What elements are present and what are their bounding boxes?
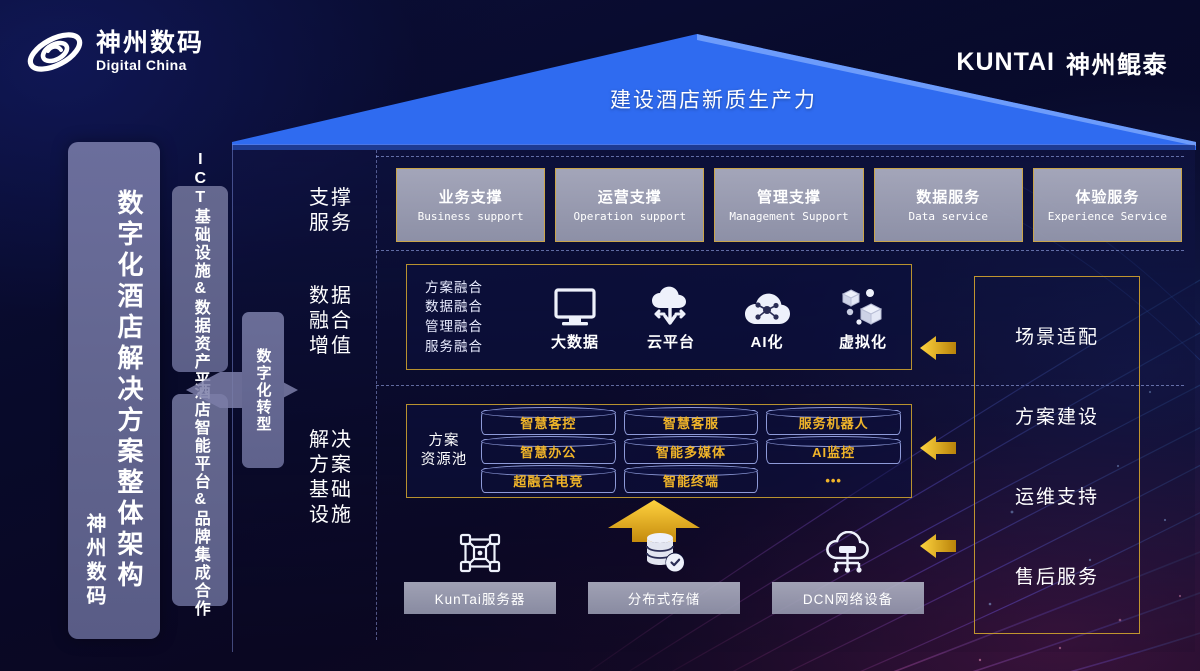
fusion-item-cloud[interactable]: 云平台 bbox=[627, 282, 715, 352]
main-architecture-pillar: 神州数码 数字化酒店解决方案整体架构 bbox=[68, 142, 160, 639]
fusion-item-bigdata[interactable]: 大数据 bbox=[531, 282, 619, 352]
support-service-card[interactable]: 体验服务Experience Service bbox=[1033, 168, 1182, 242]
resource-pool-grid: 智慧客控智慧客服服务机器人智慧办公智能多媒体AI监控超融合电竞智能终端••• bbox=[481, 410, 911, 493]
resource-pool-item[interactable]: 超融合电竞 bbox=[481, 468, 616, 493]
resource-pool-item-label: ••• bbox=[825, 473, 842, 488]
main-pillar-subtitle: 神州数码 bbox=[80, 513, 109, 639]
pillar-digital-transformation[interactable]: 数字化转型 bbox=[242, 312, 284, 468]
support-service-cn: 数据服务 bbox=[916, 186, 980, 207]
dashed-line-support-bottom bbox=[376, 250, 1184, 251]
support-service-card[interactable]: 数据服务Data service bbox=[874, 168, 1023, 242]
support-service-en: Experience Service bbox=[1048, 210, 1167, 224]
support-service-en: Management Support bbox=[729, 210, 848, 224]
row-label-support-line2: 服务 bbox=[292, 211, 370, 236]
row-label-base-line2: 方案 bbox=[292, 453, 370, 478]
left-arrow-icon-2 bbox=[920, 434, 956, 462]
fusion-keyword: 管理融合 bbox=[425, 317, 527, 337]
pillar-transformation-label: 数字化转型 bbox=[253, 348, 274, 433]
cloud-ai-nodes-icon bbox=[742, 282, 792, 328]
roof-title: 建设酒店新质生产力 bbox=[610, 84, 817, 114]
resource-pool-item[interactable]: 智能多媒体 bbox=[624, 439, 759, 464]
row-label-base-line4: 设施 bbox=[292, 503, 370, 528]
resource-pool-item-label: 智慧办公 bbox=[520, 442, 576, 461]
support-service-card[interactable]: 业务支撑Business support bbox=[396, 168, 545, 242]
fusion-item-virtualization[interactable]: 虚拟化 bbox=[819, 282, 907, 352]
resource-pool-item[interactable]: 智慧客服 bbox=[624, 410, 759, 435]
database-storage-icon bbox=[642, 530, 686, 576]
cloud-arrows-icon bbox=[647, 282, 695, 328]
pillar-ict-platform[interactable]: ICT基础设施&数据资产平台 bbox=[172, 186, 228, 372]
fusion-label-bigdata: 大数据 bbox=[551, 331, 599, 352]
row-label-solution-base: 解决 方案 基础 设施 bbox=[292, 428, 370, 528]
row-label-fusion-line2: 融合 bbox=[292, 309, 370, 334]
vertical-dashed-divider bbox=[376, 150, 377, 640]
dashed-line-top bbox=[376, 156, 1184, 157]
logo-text-en: Digital China bbox=[96, 56, 204, 74]
support-services-row: 业务支撑Business support运营支撑Operation suppor… bbox=[396, 168, 1182, 242]
support-service-cn: 管理支撑 bbox=[757, 186, 821, 207]
row-label-data-fusion: 数据 融合 增值 bbox=[292, 284, 370, 359]
infra-chip-storage[interactable]: 分布式存储 bbox=[588, 582, 740, 614]
fusion-keyword: 方案融合 bbox=[425, 278, 527, 298]
resource-pool-item-label: 智能多媒体 bbox=[656, 442, 726, 461]
right-services-panel: 场景适配方案建设运维支持售后服务 bbox=[974, 276, 1140, 634]
infra-item-storage[interactable]: 分布式存储 bbox=[588, 530, 740, 634]
support-service-en: Business support bbox=[418, 210, 524, 224]
fusion-keyword: 服务融合 bbox=[425, 337, 527, 357]
row-label-base-line1: 解决 bbox=[292, 428, 370, 453]
resource-pool-item-label: 超融合电竞 bbox=[513, 471, 583, 490]
fusion-icon-group: 大数据 云平台 bbox=[527, 282, 911, 352]
logo-text-cn: 神州数码 bbox=[96, 30, 204, 56]
infra-item-network[interactable]: DCN网络设备 bbox=[772, 530, 924, 634]
fusion-keyword: 数据融合 bbox=[425, 297, 527, 317]
infra-chip-network[interactable]: DCN网络设备 bbox=[772, 582, 924, 614]
support-service-en: Operation support bbox=[574, 210, 687, 224]
resource-pool-item[interactable]: 服务机器人 bbox=[766, 410, 901, 435]
slide-canvas: 建设酒店新质生产力 神州数码 数字化酒店解决方案整体架构 ICT基础设施&数据资… bbox=[0, 0, 1200, 671]
kuntai-logo-en: KUNTAI bbox=[956, 48, 1055, 77]
pillar-hotel-label: 酒店智能平台&品牌集成合作 bbox=[191, 383, 209, 618]
resource-pool-item-label: 智慧客控 bbox=[520, 413, 576, 432]
left-arrow-icon-3 bbox=[920, 532, 956, 560]
kuntai-logo-cn: 神州鲲泰 bbox=[1066, 45, 1168, 80]
row-label-support-services: 支撑 服务 bbox=[292, 186, 370, 236]
resource-pool-label: 方案 资源池 bbox=[407, 432, 481, 470]
support-service-cn: 体验服务 bbox=[1075, 186, 1139, 207]
digital-china-logo: 神州数码 Digital China bbox=[26, 26, 204, 78]
fusion-label-cloud: 云平台 bbox=[647, 331, 695, 352]
resource-pool-item-label: AI监控 bbox=[812, 442, 855, 461]
pillar-hotel-platform[interactable]: 酒店智能平台&品牌集成合作 bbox=[172, 394, 228, 606]
resource-pool-item[interactable]: 智慧客控 bbox=[481, 410, 616, 435]
resource-pool-label-line1: 方案 bbox=[407, 432, 481, 451]
resource-pool-item-label: 智能终端 bbox=[663, 471, 719, 490]
monitor-icon bbox=[553, 282, 597, 328]
resource-pool-item-label: 服务机器人 bbox=[799, 413, 869, 432]
support-service-cn: 业务支撑 bbox=[439, 186, 503, 207]
cubes-icon bbox=[839, 282, 887, 328]
house-roof bbox=[0, 0, 1200, 160]
support-service-en: Data service bbox=[908, 210, 987, 224]
galaxy-swirl-logo-icon bbox=[26, 26, 84, 78]
cloud-network-switch-icon bbox=[824, 530, 872, 576]
support-service-card[interactable]: 管理支撑Management Support bbox=[714, 168, 863, 242]
fusion-keyword-list: 方案融合数据融合管理融合服务融合 bbox=[407, 278, 527, 356]
right-service-item[interactable]: 场景适配 bbox=[1015, 322, 1099, 349]
infra-item-server[interactable]: KunTai服务器 bbox=[404, 530, 556, 634]
support-service-cn: 运营支撑 bbox=[598, 186, 662, 207]
resource-pool-item[interactable]: 智慧办公 bbox=[481, 439, 616, 464]
main-pillar-title: 数字化酒店解决方案整体架构 bbox=[111, 189, 148, 592]
resource-pool-item[interactable]: AI监控 bbox=[766, 439, 901, 464]
resource-pool-item-label: 智慧客服 bbox=[663, 413, 719, 432]
kuntai-logo: KUNTAI 神州鲲泰 bbox=[956, 45, 1168, 80]
infrastructure-row: KunTai服务器 分布式存储 bbox=[404, 530, 924, 634]
right-service-item[interactable]: 方案建设 bbox=[1015, 402, 1099, 429]
resource-pool-item[interactable]: 智能终端 bbox=[624, 468, 759, 493]
infra-chip-server[interactable]: KunTai服务器 bbox=[404, 582, 556, 614]
resource-pool-more-indicator: ••• bbox=[766, 468, 901, 493]
right-service-item[interactable]: 售后服务 bbox=[1015, 562, 1099, 589]
left-arrow-icon-1 bbox=[920, 334, 956, 362]
right-service-item[interactable]: 运维支持 bbox=[1015, 482, 1099, 509]
fusion-item-ai[interactable]: AI化 bbox=[723, 282, 811, 352]
support-service-card[interactable]: 运营支撑Operation support bbox=[555, 168, 704, 242]
solution-resource-pool-box: 方案 资源池 智慧客控智慧客服服务机器人智慧办公智能多媒体AI监控超融合电竞智能… bbox=[406, 404, 912, 498]
row-label-base-line3: 基础 bbox=[292, 478, 370, 503]
fusion-label-ai: AI化 bbox=[750, 331, 783, 352]
row-label-support-line1: 支撑 bbox=[292, 186, 370, 211]
data-fusion-box: 方案融合数据融合管理融合服务融合 大数据 云平台 bbox=[406, 264, 912, 370]
resource-pool-label-line2: 资源池 bbox=[407, 451, 481, 470]
row-label-fusion-line3: 增值 bbox=[292, 334, 370, 359]
fusion-label-virtualization: 虚拟化 bbox=[839, 331, 887, 352]
row-label-fusion-line1: 数据 bbox=[292, 284, 370, 309]
server-chip-network-icon bbox=[457, 530, 503, 576]
